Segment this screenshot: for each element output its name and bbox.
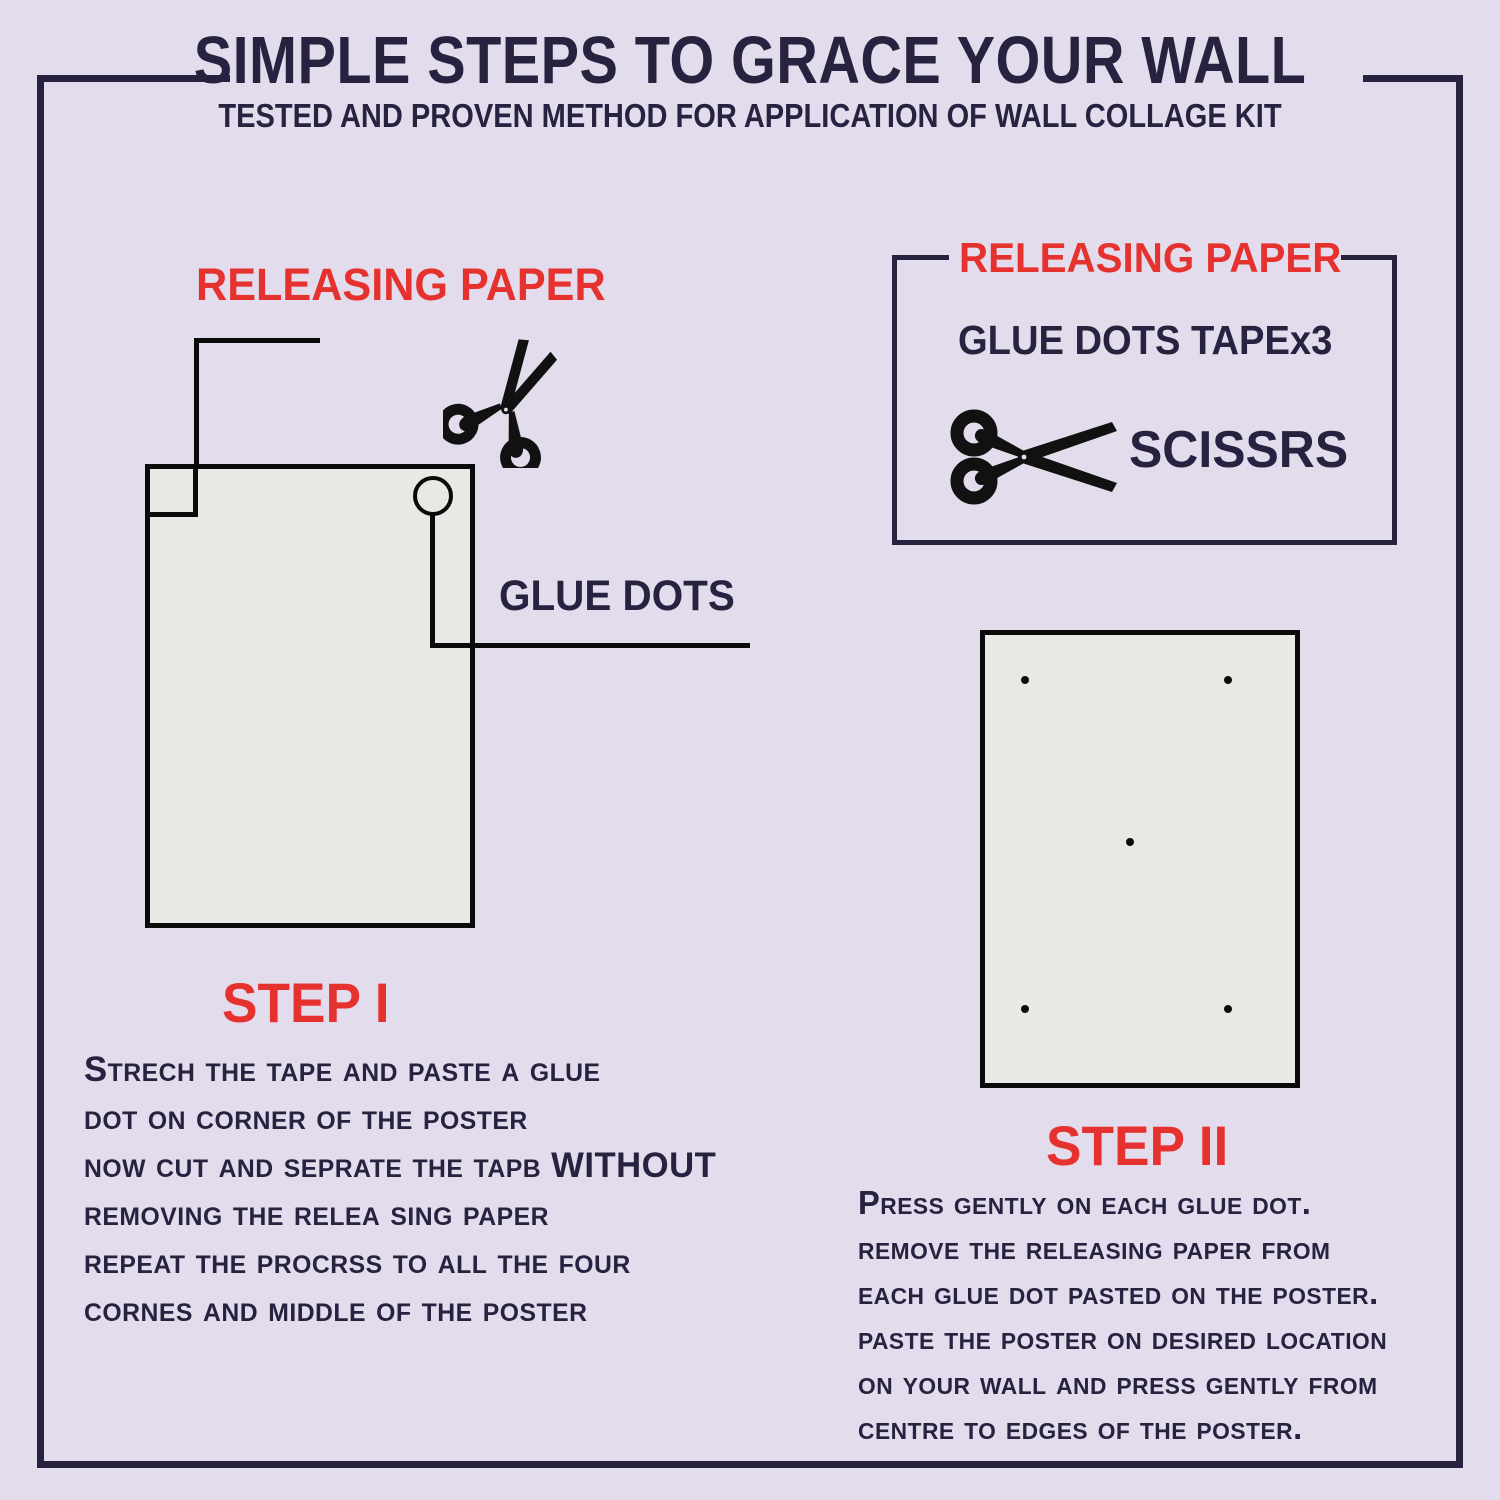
glue-dot-center — [1126, 838, 1134, 846]
legend-item-scissors: SCISSRS — [1129, 424, 1348, 476]
releasing-paper-corner-tab — [145, 464, 198, 517]
leader-line-releasing-vertical — [194, 338, 199, 472]
step-one-line: removing the relea sing paper — [84, 1190, 716, 1238]
step-one-line: cornes and middle of the poster — [84, 1286, 716, 1334]
step-one-line: repeat the procrss to all the four — [84, 1238, 716, 1286]
glue-dot-bottom-left — [1021, 1005, 1029, 1013]
poster-diagram-step-two — [980, 630, 1300, 1088]
leader-line-releasing-horizontal — [194, 338, 320, 343]
legend-box-border-bottom — [892, 540, 1397, 545]
step-one-line: now cut and seprate the tapb WITHOUT — [84, 1142, 716, 1190]
step-one-line: dot on corner of the poster — [84, 1094, 716, 1142]
legend-box-title: RELEASING PAPER — [959, 237, 1341, 279]
legend-box-border-right — [1392, 255, 1397, 545]
page-title: SIMPLE STEPS TO GRACE YOUR WALL — [105, 22, 1395, 99]
releasing-paper-label-left: RELEASING PAPER — [196, 262, 606, 307]
step-one-line: Strech the tape and paste a glue — [84, 1046, 716, 1094]
page-subtitle: TESTED AND PROVEN METHOD FOR APPLICATION… — [90, 97, 1410, 135]
leader-line-glue-dots-horizontal — [430, 643, 750, 648]
step-one-body: Strech the tape and paste a glue dot on … — [84, 1046, 723, 1334]
legend-box-border-left — [892, 255, 897, 545]
legend-box-border-top-left-segment — [892, 255, 949, 260]
step-one-heading: STEP I — [222, 975, 390, 1031]
glue-dot-top-left — [1021, 676, 1029, 684]
step-two-line: each glue dot pasted on the poster. — [858, 1270, 1387, 1315]
infographic-canvas: SIMPLE STEPS TO GRACE YOUR WALL TESTED A… — [0, 0, 1500, 1500]
glue-dot-top-right — [1224, 676, 1232, 684]
frame-border-bottom — [37, 1461, 1463, 1468]
step-two-line: paste the poster on desired location — [858, 1315, 1387, 1360]
glue-dots-label: GLUE DOTS — [499, 575, 735, 618]
legend-item-glue-dots-tape: GLUE DOTS TAPEx3 — [958, 320, 1332, 361]
step-two-line: Press gently on each glue dot. — [858, 1180, 1387, 1225]
poster-diagram-step-one — [145, 464, 475, 928]
step-two-heading: STEP II — [1046, 1118, 1228, 1174]
glue-dot-marker — [413, 476, 453, 516]
step-two-body: Press gently on each glue dot. remove th… — [858, 1180, 1393, 1450]
step-two-line: centre to edges of the poster. — [858, 1405, 1387, 1450]
step-two-line: remove the releasing paper from — [858, 1225, 1387, 1270]
scissors-icon — [443, 332, 579, 468]
frame-border-left — [37, 75, 44, 1468]
step-two-line: on your wall and press gently from — [858, 1360, 1387, 1405]
frame-border-right — [1456, 75, 1463, 1468]
glue-dot-bottom-right — [1224, 1005, 1232, 1013]
leader-line-glue-dots-vertical — [430, 512, 435, 647]
scissors-icon — [944, 402, 1124, 512]
legend-box-border-top-right-segment — [1341, 255, 1397, 260]
